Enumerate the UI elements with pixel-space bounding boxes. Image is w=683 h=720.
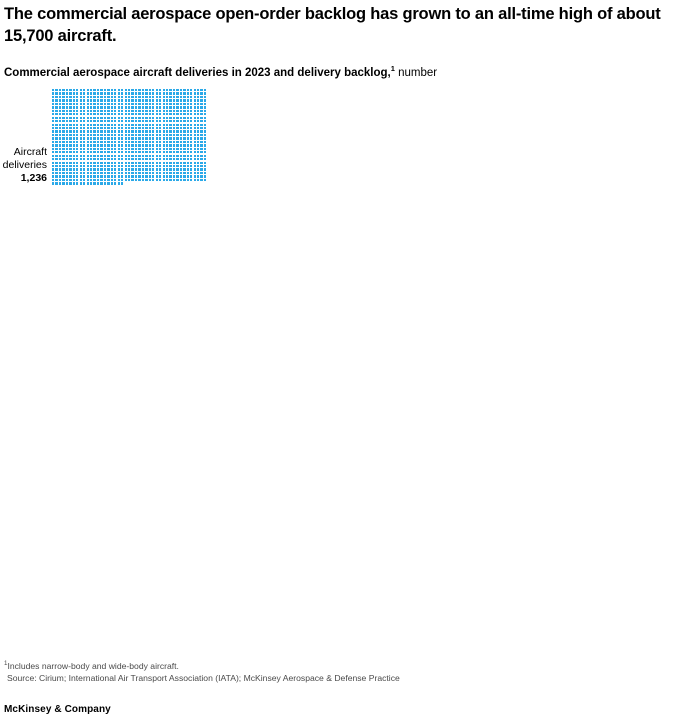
dot-unit <box>76 96 78 98</box>
dot-unit <box>59 130 61 132</box>
dot-unit <box>73 96 75 98</box>
dot-unit <box>194 148 196 150</box>
dot-unit <box>59 103 61 105</box>
dot-unit <box>93 141 95 143</box>
dot-unit <box>176 113 178 115</box>
dot-unit <box>187 137 189 139</box>
dot-unit <box>180 172 182 174</box>
dot-unit <box>55 106 57 108</box>
dot-unit <box>62 155 64 157</box>
dot-unit <box>73 155 75 157</box>
dot-unit <box>152 151 154 153</box>
dot-unit <box>159 158 161 160</box>
dot-unit <box>180 110 182 112</box>
dot-unit <box>76 155 78 157</box>
dot-unit <box>73 124 75 126</box>
dot-unit <box>135 137 137 139</box>
dot-unit <box>194 106 196 108</box>
dot-unit <box>169 172 171 174</box>
dot-unit <box>111 162 113 164</box>
dot-unit <box>169 103 171 105</box>
dot-unit <box>104 96 106 98</box>
dot-unit <box>197 151 199 153</box>
dot-unit <box>114 137 116 139</box>
dot-unit <box>83 130 85 132</box>
dot-unit <box>197 103 199 105</box>
dot-unit <box>87 124 89 126</box>
dot-unit <box>87 103 89 105</box>
dot-unit <box>169 99 171 101</box>
dot-unit <box>173 103 175 105</box>
dot-unit <box>121 130 123 132</box>
dot-unit <box>76 89 78 91</box>
dot-unit <box>73 134 75 136</box>
dot-unit <box>69 182 71 184</box>
dot-unit <box>83 124 85 126</box>
dot-unit <box>100 113 102 115</box>
dot-unit <box>90 165 92 167</box>
dot-unit <box>152 110 154 112</box>
dot-unit <box>69 117 71 119</box>
dot-unit <box>114 158 116 160</box>
series-label-aircraft-deliveries: Aircraft deliveries 1,236 <box>0 146 47 185</box>
dot-unit <box>121 96 123 98</box>
dot-unit <box>66 179 68 181</box>
dot-unit <box>69 99 71 101</box>
dot-unit <box>176 89 178 91</box>
dot-unit <box>176 172 178 174</box>
dot-unit <box>59 89 61 91</box>
dot-unit <box>166 172 168 174</box>
dot-unit <box>62 120 64 122</box>
dot-unit <box>100 137 102 139</box>
dot-unit <box>145 151 147 153</box>
dot-unit <box>128 96 130 98</box>
dot-unit <box>190 155 192 157</box>
dot-unit <box>200 113 202 115</box>
dot-unit <box>52 175 54 177</box>
dot-unit <box>104 113 106 115</box>
dot-unit <box>169 155 171 157</box>
dot-unit <box>173 141 175 143</box>
dot-unit <box>183 120 185 122</box>
dot-unit <box>73 110 75 112</box>
dot-unit <box>128 99 130 101</box>
dot-unit <box>121 127 123 129</box>
dot-unit <box>180 113 182 115</box>
dot-unit <box>90 117 92 119</box>
dot-unit <box>187 155 189 157</box>
dot-unit <box>128 158 130 160</box>
dot-unit <box>121 110 123 112</box>
dot-unit <box>104 92 106 94</box>
dot-unit <box>121 151 123 153</box>
dot-unit <box>166 179 168 181</box>
dot-unit <box>80 151 82 153</box>
dot-unit <box>111 141 113 143</box>
dot-unit <box>152 158 154 160</box>
dot-unit <box>128 127 130 129</box>
dot-unit <box>121 179 123 181</box>
dot-unit <box>118 137 120 139</box>
dot-unit <box>163 103 165 105</box>
footnote-note-text: Includes narrow-body and wide-body aircr… <box>7 661 179 671</box>
dot-unit <box>73 151 75 153</box>
dot-unit <box>135 158 137 160</box>
dot-unit <box>52 117 54 119</box>
dot-unit <box>197 155 199 157</box>
dot-unit <box>100 117 102 119</box>
dot-unit <box>121 137 123 139</box>
dot-unit <box>152 175 154 177</box>
dot-unit <box>176 106 178 108</box>
dot-unit <box>83 113 85 115</box>
dot-unit <box>69 165 71 167</box>
dot-unit <box>142 165 144 167</box>
dot-unit <box>156 151 158 153</box>
dot-unit <box>62 110 64 112</box>
dot-unit <box>62 158 64 160</box>
dot-unit <box>118 103 120 105</box>
dot-unit <box>194 127 196 129</box>
dot-unit <box>190 130 192 132</box>
dot-unit <box>118 175 120 177</box>
dot-unit <box>69 137 71 139</box>
dot-unit <box>131 96 133 98</box>
dot-unit <box>197 124 199 126</box>
dot-unit <box>107 110 109 112</box>
footnote-note: 1Includes narrow-body and wide-body airc… <box>4 661 664 673</box>
dot-unit <box>166 103 168 105</box>
dot-unit <box>59 144 61 146</box>
dot-unit <box>200 134 202 136</box>
dot-unit <box>76 148 78 150</box>
dot-unit <box>149 165 151 167</box>
dot-unit <box>194 158 196 160</box>
dot-unit <box>166 120 168 122</box>
dot-unit <box>173 151 175 153</box>
dot-unit <box>180 89 182 91</box>
dot-unit <box>73 168 75 170</box>
dot-unit <box>76 113 78 115</box>
dot-unit <box>73 158 75 160</box>
dot-unit <box>66 155 68 157</box>
dot-unit <box>100 92 102 94</box>
dot-unit <box>125 141 127 143</box>
dot-unit <box>52 106 54 108</box>
dot-unit <box>163 175 165 177</box>
dot-unit <box>145 179 147 181</box>
dot-unit <box>93 113 95 115</box>
dot-unit <box>200 148 202 150</box>
dot-unit <box>145 99 147 101</box>
dot-unit <box>194 165 196 167</box>
dot-unit <box>69 113 71 115</box>
dot-unit <box>97 144 99 146</box>
dot-unit <box>187 175 189 177</box>
dot-unit <box>183 148 185 150</box>
dot-unit <box>90 168 92 170</box>
dot-unit <box>87 165 89 167</box>
dot-unit <box>163 99 165 101</box>
dot-unit <box>149 103 151 105</box>
dot-unit <box>197 168 199 170</box>
dot-unit <box>52 120 54 122</box>
dot-unit <box>169 134 171 136</box>
dot-unit <box>180 96 182 98</box>
dot-unit <box>159 144 161 146</box>
dot-unit <box>131 168 133 170</box>
dot-unit <box>80 134 82 136</box>
dot-unit <box>100 151 102 153</box>
dot-unit <box>55 172 57 174</box>
dot-unit <box>142 92 144 94</box>
dot-unit <box>169 158 171 160</box>
dot-unit <box>152 179 154 181</box>
dot-unit <box>149 168 151 170</box>
dot-unit <box>128 130 130 132</box>
series-label-line1: Aircraft <box>0 146 47 159</box>
dot-unit <box>190 96 192 98</box>
dot-unit <box>173 124 175 126</box>
dot-unit <box>145 120 147 122</box>
dot-unit <box>121 172 123 174</box>
dot-unit <box>128 124 130 126</box>
dot-unit <box>145 148 147 150</box>
dot-unit <box>142 175 144 177</box>
dot-unit <box>97 179 99 181</box>
dot-unit <box>204 127 206 129</box>
dot-unit <box>169 127 171 129</box>
dot-unit <box>190 158 192 160</box>
dot-unit <box>163 127 165 129</box>
dot-unit <box>138 151 140 153</box>
dot-unit <box>97 127 99 129</box>
dot-unit <box>166 158 168 160</box>
dot-unit <box>176 120 178 122</box>
dot-unit <box>121 165 123 167</box>
dot-unit <box>59 99 61 101</box>
dot-unit <box>166 106 168 108</box>
dot-unit <box>135 120 137 122</box>
dot-unit <box>125 120 127 122</box>
dot-unit <box>156 99 158 101</box>
dot-unit <box>90 113 92 115</box>
dot-unit <box>145 117 147 119</box>
dot-unit <box>104 103 106 105</box>
dot-unit <box>190 89 192 91</box>
dot-unit <box>166 141 168 143</box>
dot-unit <box>104 151 106 153</box>
dot-unit <box>173 106 175 108</box>
dot-unit <box>52 99 54 101</box>
dot-unit <box>55 89 57 91</box>
dot-unit <box>187 130 189 132</box>
dot-unit <box>128 179 130 181</box>
dot-unit <box>66 165 68 167</box>
dot-unit <box>180 168 182 170</box>
dot-unit <box>76 99 78 101</box>
dot-unit <box>131 106 133 108</box>
dot-unit <box>52 110 54 112</box>
dot-unit <box>166 127 168 129</box>
dot-unit <box>138 155 140 157</box>
dot-unit <box>135 89 137 91</box>
dot-unit <box>190 137 192 139</box>
dot-unit <box>69 134 71 136</box>
dot-unit <box>83 99 85 101</box>
dot-unit <box>97 165 99 167</box>
dot-unit <box>200 158 202 160</box>
dot-unit <box>204 117 206 119</box>
dot-unit <box>125 127 127 129</box>
dot-unit <box>111 155 113 157</box>
dot-unit <box>62 137 64 139</box>
dot-unit <box>125 137 127 139</box>
dot-unit <box>169 162 171 164</box>
dot-unit <box>176 175 178 177</box>
dot-unit <box>197 120 199 122</box>
dot-unit <box>118 96 120 98</box>
dot-unit <box>180 151 182 153</box>
dot-unit <box>55 134 57 136</box>
dot-unit <box>183 117 185 119</box>
dot-unit <box>200 137 202 139</box>
dot-unit <box>100 110 102 112</box>
dot-unit <box>118 99 120 101</box>
dot-unit <box>87 89 89 91</box>
dot-unit <box>180 130 182 132</box>
chart-subtitle-unit: number <box>395 67 437 79</box>
dot-unit <box>100 127 102 129</box>
dot-unit <box>138 162 140 164</box>
dot-unit <box>93 103 95 105</box>
dot-unit <box>73 89 75 91</box>
dot-unit <box>145 155 147 157</box>
dot-unit <box>163 92 165 94</box>
dot-unit <box>128 103 130 105</box>
dot-unit <box>204 144 206 146</box>
dot-unit <box>114 127 116 129</box>
dot-unit <box>107 103 109 105</box>
dot-unit <box>100 162 102 164</box>
dot-unit <box>142 162 144 164</box>
dot-unit <box>145 124 147 126</box>
chart-subtitle: Commercial aerospace aircraft deliveries… <box>4 66 664 81</box>
dot-unit <box>80 144 82 146</box>
dot-unit <box>200 172 202 174</box>
dot-unit <box>166 162 168 164</box>
dot-unit <box>80 120 82 122</box>
dot-unit <box>142 168 144 170</box>
dot-unit <box>125 113 127 115</box>
dot-unit <box>176 130 178 132</box>
dot-unit <box>187 127 189 129</box>
dot-unit <box>104 155 106 157</box>
dot-unit <box>176 134 178 136</box>
dot-unit <box>142 113 144 115</box>
dot-unit <box>152 96 154 98</box>
dot-unit <box>149 124 151 126</box>
dot-unit <box>90 89 92 91</box>
dot-unit <box>176 179 178 181</box>
dot-unit <box>152 106 154 108</box>
dot-unit <box>187 106 189 108</box>
dot-unit <box>83 141 85 143</box>
dot-unit <box>80 175 82 177</box>
dot-unit <box>69 175 71 177</box>
dot-unit <box>83 155 85 157</box>
dot-unit <box>128 162 130 164</box>
dot-unit <box>187 172 189 174</box>
dot-unit <box>156 155 158 157</box>
dot-unit <box>131 179 133 181</box>
dot-unit <box>190 113 192 115</box>
dot-unit <box>142 137 144 139</box>
dot-unit <box>66 175 68 177</box>
dot-unit <box>62 99 64 101</box>
dot-unit <box>62 162 64 164</box>
dot-unit <box>107 106 109 108</box>
dot-unit <box>69 124 71 126</box>
dot-unit <box>107 134 109 136</box>
footnotes: 1Includes narrow-body and wide-body airc… <box>4 661 664 684</box>
dot-unit <box>135 124 137 126</box>
dot-unit <box>128 92 130 94</box>
dot-unit <box>156 137 158 139</box>
dot-unit <box>187 179 189 181</box>
dot-unit <box>93 179 95 181</box>
dot-unit <box>73 137 75 139</box>
dot-unit <box>190 103 192 105</box>
dot-unit <box>159 172 161 174</box>
dot-unit <box>183 155 185 157</box>
dot-unit <box>118 120 120 122</box>
dot-unit <box>173 96 175 98</box>
dot-unit <box>87 182 89 184</box>
dot-unit <box>138 113 140 115</box>
dot-unit <box>87 144 89 146</box>
dot-unit <box>87 168 89 170</box>
dot-unit <box>59 158 61 160</box>
dot-unit <box>73 144 75 146</box>
dot-unit <box>166 96 168 98</box>
dot-unit <box>73 120 75 122</box>
dot-unit <box>197 92 199 94</box>
dot-unit <box>87 92 89 94</box>
dot-unit <box>152 124 154 126</box>
dot-unit <box>145 106 147 108</box>
dot-unit <box>111 106 113 108</box>
dot-unit <box>100 168 102 170</box>
dot-unit <box>80 172 82 174</box>
dot-unit <box>111 99 113 101</box>
dot-unit <box>163 124 165 126</box>
dot-unit <box>135 144 137 146</box>
dot-unit <box>159 92 161 94</box>
dot-unit <box>163 162 165 164</box>
dot-unit <box>152 113 154 115</box>
dot-unit <box>128 144 130 146</box>
dot-unit <box>73 130 75 132</box>
dot-unit <box>66 162 68 164</box>
dot-unit <box>93 124 95 126</box>
dot-unit <box>52 182 54 184</box>
dot-unit <box>152 162 154 164</box>
dot-unit <box>111 103 113 105</box>
dot-unit <box>135 141 137 143</box>
dot-unit <box>114 92 116 94</box>
